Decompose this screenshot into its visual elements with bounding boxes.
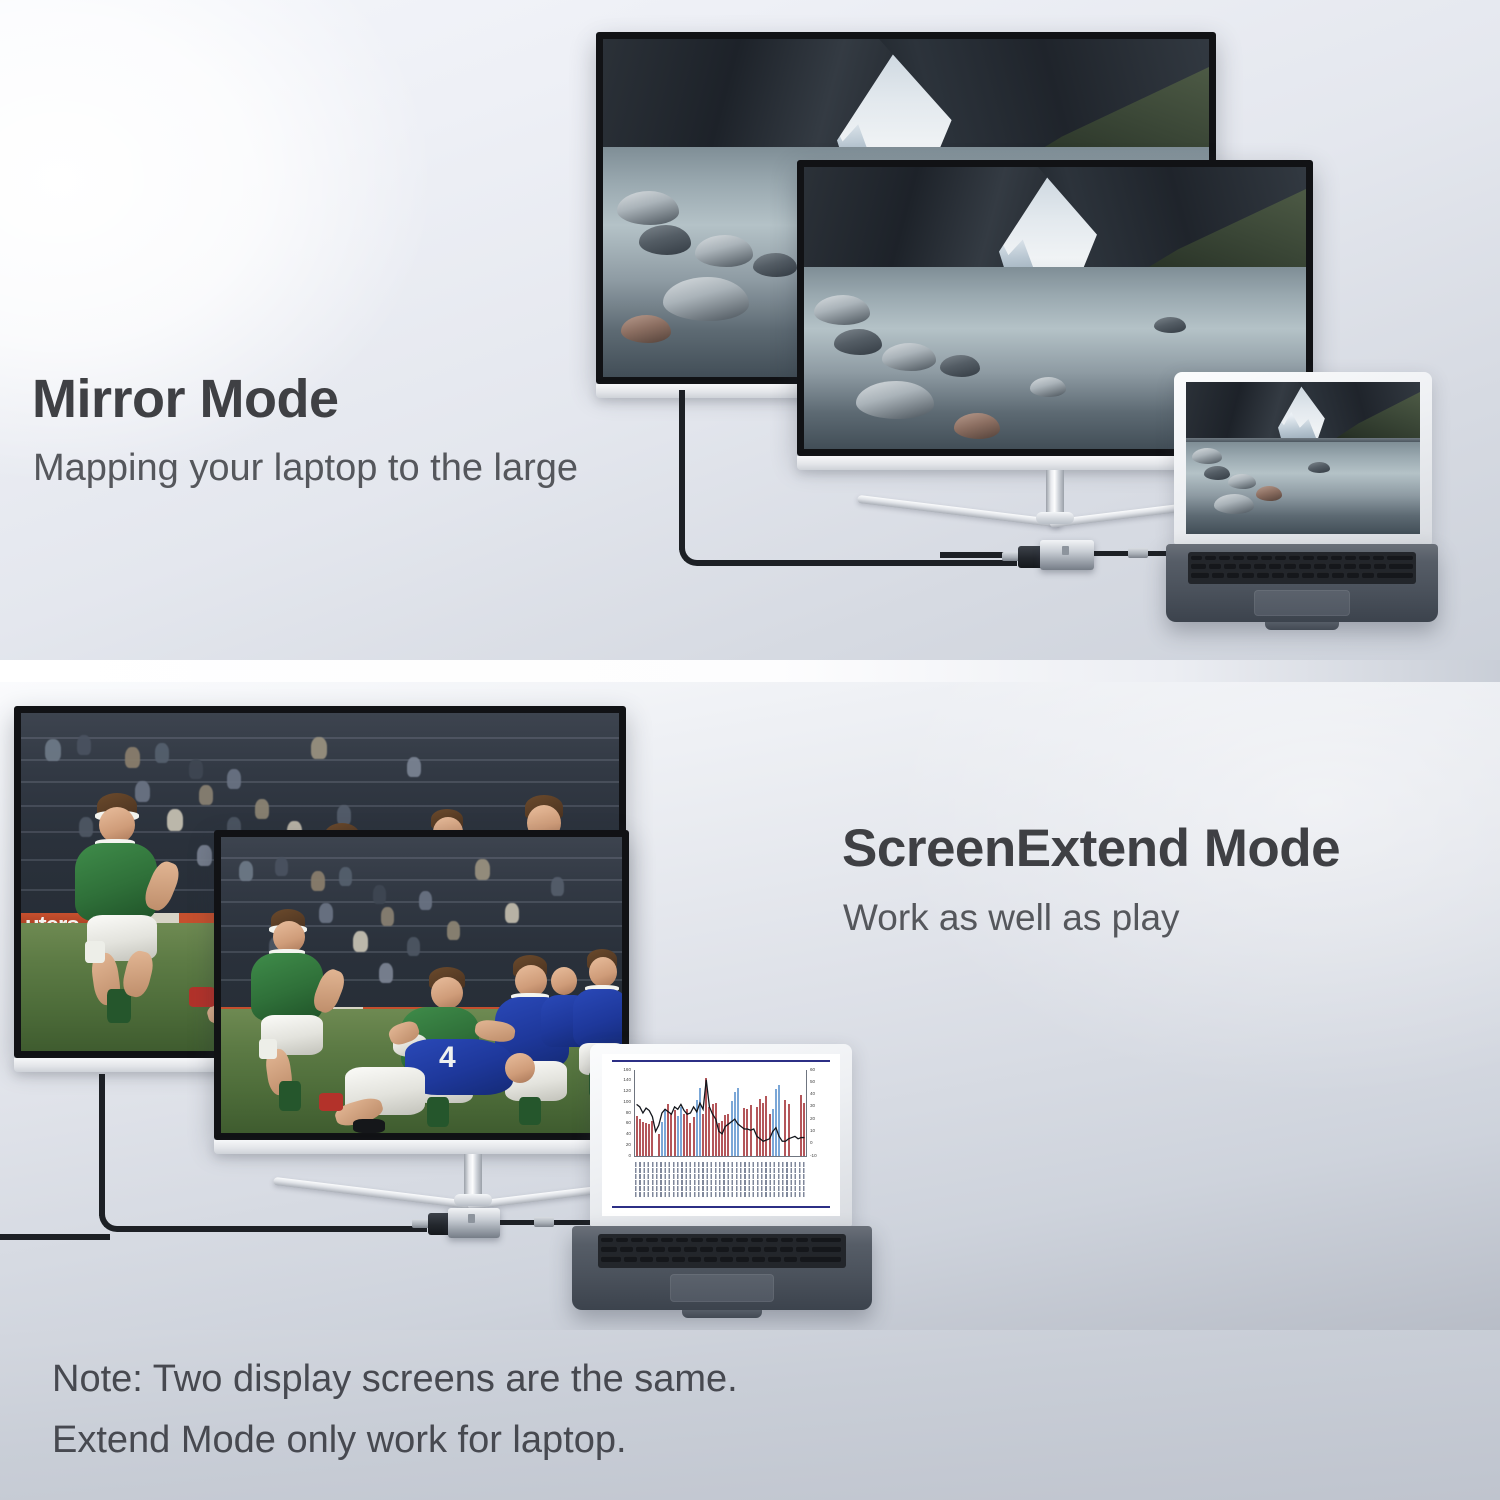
y2-tick-label: 40 bbox=[810, 1092, 828, 1097]
y2-tick-label: 0 bbox=[810, 1141, 828, 1146]
note-section bbox=[0, 1330, 1500, 1500]
mirror-laptop-lid bbox=[1174, 372, 1432, 544]
y-tick-label: 80 bbox=[612, 1111, 631, 1116]
y2-tick-label: 50 bbox=[810, 1080, 828, 1085]
y2-tick-label: 30 bbox=[810, 1104, 828, 1109]
table-row bbox=[635, 1174, 806, 1179]
mirror-mode-section bbox=[0, 0, 1500, 660]
table-row bbox=[635, 1180, 806, 1185]
mirror-laptop-keyboard bbox=[1188, 552, 1416, 584]
y2-tick-label: 10 bbox=[810, 1129, 828, 1134]
table-row bbox=[635, 1168, 806, 1173]
note-line-2: Extend Mode only work for laptop. bbox=[52, 1419, 627, 1462]
screenextend-mode-title: ScreenExtend Mode bbox=[842, 818, 1340, 879]
extend-laptop-lid: 020406080100120140160 -100102030405060 bbox=[590, 1044, 852, 1226]
doc-rule-bottom bbox=[612, 1206, 831, 1208]
table-row bbox=[635, 1192, 806, 1197]
mirror-laptop-screen bbox=[1186, 382, 1420, 534]
extend-front-monitor-bezel bbox=[214, 1140, 629, 1154]
extend-laptop-keyboard bbox=[598, 1234, 846, 1268]
rugby-jersey-number-front: 4 bbox=[439, 1041, 455, 1075]
rugby-player-green-back bbox=[65, 793, 195, 1023]
y2-tick-label: 20 bbox=[810, 1117, 828, 1122]
chart-document: 020406080100120140160 -100102030405060 bbox=[602, 1054, 840, 1216]
y-tick-label: 160 bbox=[612, 1068, 631, 1073]
doc-rule-top bbox=[612, 1060, 831, 1062]
y-tick-label: 20 bbox=[612, 1143, 631, 1148]
screenextend-mode-subtitle: Work as well as play bbox=[843, 897, 1180, 939]
y-tick-label: 60 bbox=[612, 1121, 631, 1126]
y-tick-label: 40 bbox=[612, 1132, 631, 1137]
chart-y-axis-right bbox=[806, 1070, 807, 1156]
bar-line-chart: 020406080100120140160 -100102030405060 bbox=[612, 1070, 830, 1174]
mirror-laptop bbox=[1166, 372, 1438, 634]
extend-laptop: 020406080100120140160 -100102030405060 bbox=[572, 1044, 872, 1324]
extend-laptop-screen: 020406080100120140160 -100102030405060 bbox=[602, 1054, 840, 1216]
y2-tick-label: 60 bbox=[810, 1068, 828, 1073]
rugby-player-blue4-front: 4 bbox=[339, 1039, 559, 1133]
y-tick-label: 120 bbox=[612, 1089, 631, 1094]
table-row bbox=[635, 1162, 806, 1167]
extend-front-monitor: uters bbox=[214, 830, 629, 1140]
note-line-1: Note: Two display screens are the same. bbox=[52, 1358, 738, 1401]
y-tick-label: 100 bbox=[612, 1100, 631, 1105]
product-infographic: uters bbox=[0, 0, 1500, 1500]
chart-x-axis bbox=[634, 1156, 807, 1157]
chart-data-table bbox=[635, 1162, 806, 1202]
mirror-laptop-base bbox=[1166, 544, 1438, 622]
extend-laptop-base bbox=[572, 1226, 872, 1310]
section-divider bbox=[0, 660, 1500, 682]
mirror-mode-subtitle: Mapping your laptop to the large bbox=[33, 447, 578, 490]
mirror-mode-title: Mirror Mode bbox=[32, 368, 339, 430]
chart-line-series bbox=[635, 1070, 806, 1156]
screenextend-mode-section: uters bbox=[0, 682, 1500, 1330]
extend-laptop-trackpad bbox=[670, 1274, 774, 1302]
valley-landscape-laptop bbox=[1186, 382, 1420, 534]
y-tick-label: 0 bbox=[612, 1154, 631, 1159]
extend-front-monitor-screen: uters bbox=[214, 830, 629, 1140]
rugby-photo-front: uters bbox=[221, 837, 622, 1133]
mirror-laptop-trackpad bbox=[1254, 590, 1350, 616]
table-row bbox=[635, 1186, 806, 1191]
y-tick-label: 140 bbox=[612, 1078, 631, 1083]
y2-tick-label: -10 bbox=[810, 1154, 828, 1159]
